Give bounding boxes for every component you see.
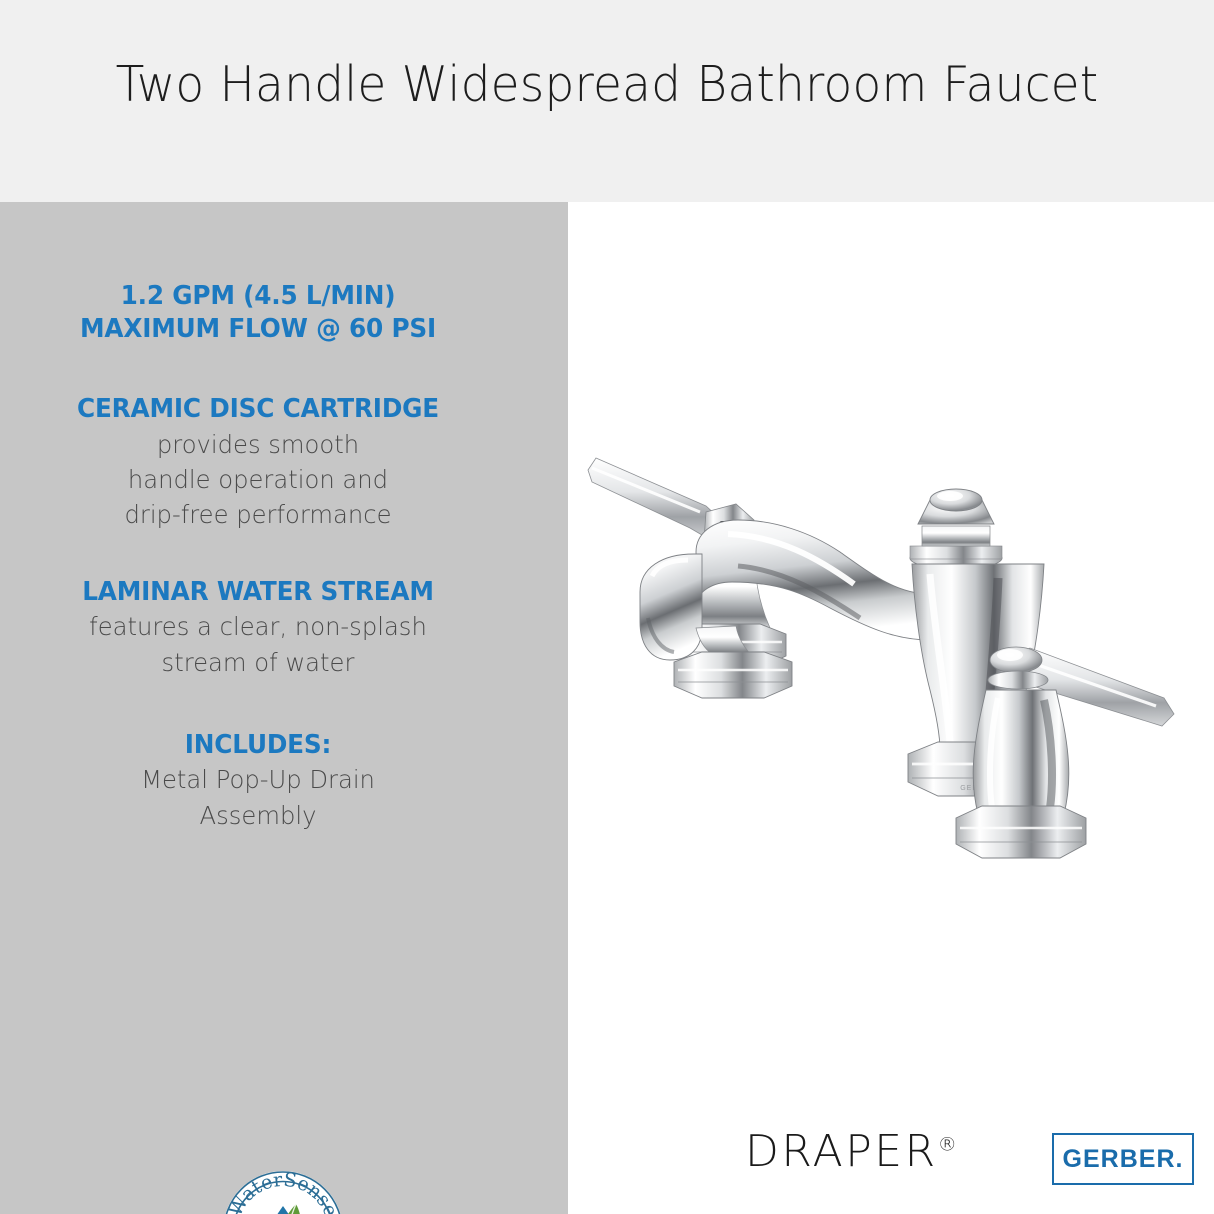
faucet-right-handle bbox=[956, 647, 1174, 858]
gerber-logo: GERBER. bbox=[1052, 1133, 1194, 1185]
gerber-wordmark: GERBER. bbox=[1063, 1145, 1184, 1174]
feature-list: 1.2 GPM (4.5 L/MIN) MAXIMUM FLOW @ 60 PS… bbox=[0, 202, 516, 862]
feature-flow-rate-line2: MAXIMUM FLOW @ 60 PSI bbox=[8, 313, 509, 346]
feature-flow-rate-line1: 1.2 GPM (4.5 L/MIN) bbox=[8, 280, 509, 313]
feature-laminar-heading: LAMINAR WATER STREAM bbox=[8, 576, 509, 609]
feature-includes-body-line2: Assembly bbox=[8, 799, 509, 832]
feature-laminar-body-line2: stream of water bbox=[8, 646, 509, 679]
feature-cartridge-body-line2: handle operation and bbox=[8, 463, 509, 496]
feature-includes-heading: INCLUDES: bbox=[8, 729, 509, 762]
draper-wordmark: DRAPER bbox=[745, 1126, 938, 1177]
watersense-logo: WaterSense Meets EPA Criteria bbox=[222, 1170, 344, 1214]
feature-includes: INCLUDES: Metal Pop-Up Drain Assembly bbox=[0, 729, 516, 832]
faucet-product-photo: GERBER bbox=[578, 442, 1188, 912]
feature-laminar-water-stream: LAMINAR WATER STREAM features a clear, n… bbox=[0, 576, 516, 679]
page-title: Two Handle Widespread Bathroom Faucet bbox=[24, 56, 1189, 113]
feature-flow-rate: 1.2 GPM (4.5 L/MIN) MAXIMUM FLOW @ 60 PS… bbox=[0, 280, 516, 345]
draper-registered-mark: ® bbox=[938, 1133, 957, 1155]
product-image-area: GERBER bbox=[568, 202, 1214, 1214]
feature-cartridge-heading: CERAMIC DISC CARTRIDGE bbox=[8, 393, 509, 426]
feature-laminar-body-line1: features a clear, non-splash bbox=[8, 610, 509, 643]
feature-cartridge-body-line3: drip-free performance bbox=[8, 498, 509, 531]
feature-includes-body-line1: Metal Pop-Up Drain bbox=[8, 763, 509, 796]
feature-cartridge-body-line1: provides smooth bbox=[8, 428, 509, 461]
feature-ceramic-disc-cartridge: CERAMIC DISC CARTRIDGE provides smooth h… bbox=[0, 393, 516, 531]
features-panel: Features 1.2 GPM (4.5 L/MIN) MAXIMUM FLO… bbox=[0, 202, 568, 1214]
draper-logo: DRAPER® bbox=[745, 1126, 957, 1177]
